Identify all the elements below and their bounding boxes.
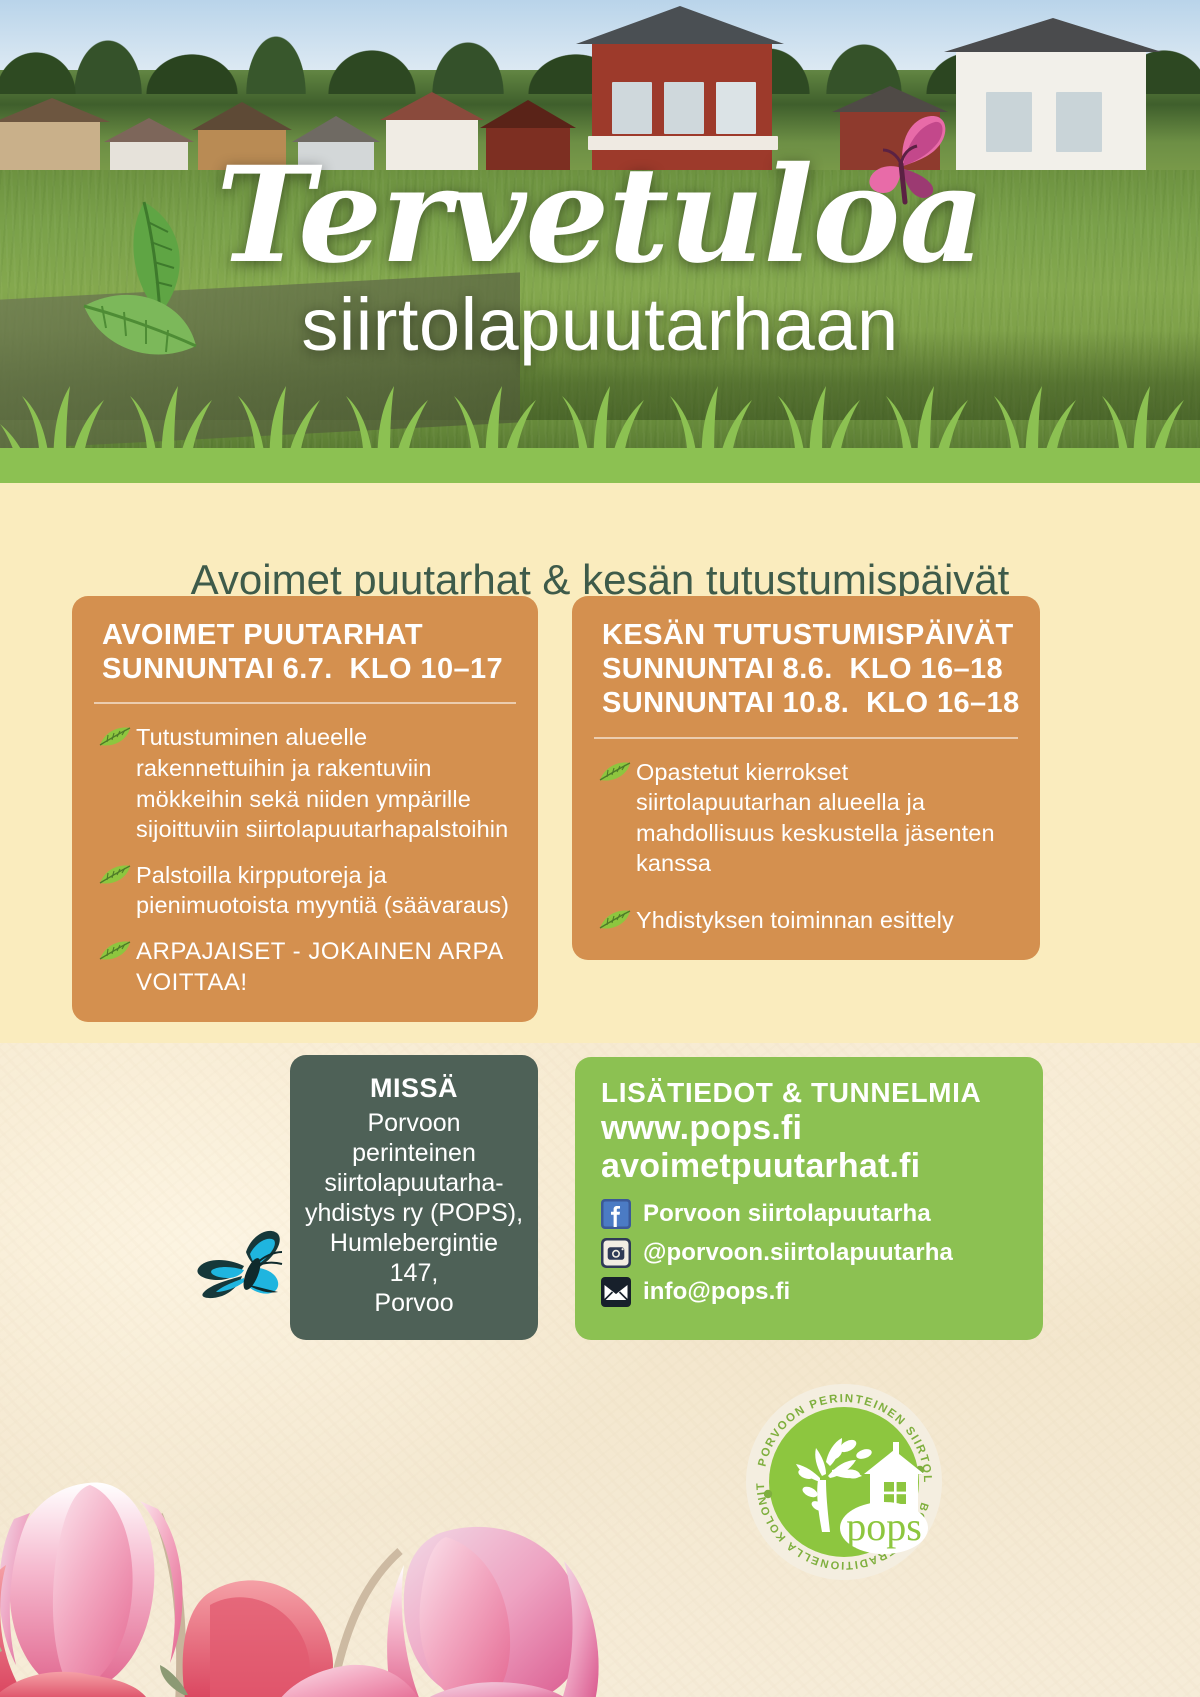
list-item-text: Opastetut kierrokset siirtolapuutarhan a… bbox=[636, 757, 1014, 879]
social-label: info@pops.fi bbox=[643, 1278, 790, 1306]
contact-heading: LISÄTIEDOT & TUNNELMIA bbox=[601, 1077, 1019, 1109]
cottage-window bbox=[664, 82, 704, 134]
cottage-window bbox=[612, 82, 652, 134]
card-bullets: Tutustuminen alueelle rakennettuihin ja … bbox=[72, 704, 538, 1022]
website-link[interactable]: www.pops.fi bbox=[601, 1109, 1019, 1147]
social-link-instagram[interactable]: @porvoon.siirtolapuutarha bbox=[601, 1238, 1019, 1268]
card-title: AVOIMET PUUTARHAT bbox=[102, 618, 512, 652]
leaf-icon bbox=[598, 909, 636, 936]
social-link-email[interactable]: info@pops.fi bbox=[601, 1277, 1019, 1307]
list-item-text: ARPAJAISET - JOKAINEN ARPA VOITTAA! bbox=[136, 936, 512, 998]
website-link[interactable]: avoimetpuutarhat.fi bbox=[601, 1147, 1019, 1185]
list-item: Tutustuminen alueelle rakennettuihin ja … bbox=[98, 722, 512, 844]
cottage-roof bbox=[480, 100, 576, 128]
location-line: Porvoo bbox=[304, 1288, 524, 1318]
poster-root: Tervetuloa siirtolapuutarhaan bbox=[0, 0, 1200, 1697]
card-header: AVOIMET PUUTARHAT SUNNUNTAI 6.7. KLO 10–… bbox=[72, 596, 538, 702]
leaf-icon bbox=[598, 761, 636, 788]
list-item: Opastetut kierrokset siirtolapuutarhan a… bbox=[598, 757, 1014, 879]
cottage-roof bbox=[380, 92, 484, 120]
cottage-window bbox=[1056, 92, 1102, 152]
card-contact: LISÄTIEDOT & TUNNELMIA www.pops.fi avoim… bbox=[575, 1057, 1043, 1340]
list-item-text: Yhdistyksen toiminnan esittely bbox=[636, 905, 954, 936]
cottage-window bbox=[716, 82, 756, 134]
pops-logo: PORVOON PERINTEINEN SIIRTOLAPUUTARHA BOR… bbox=[744, 1382, 944, 1582]
social-label: @porvoon.siirtolapuutarha bbox=[643, 1239, 953, 1267]
card-kesan-tutustumispaivat: KESÄN TUTUSTUMISPÄIVÄT SUNNUNTAI 8.6. KL… bbox=[572, 596, 1040, 960]
facebook-icon bbox=[601, 1199, 631, 1229]
social-links: Porvoon siirtolapuutarha @porvoon.siirto… bbox=[601, 1199, 1019, 1307]
cottage-roof bbox=[832, 86, 948, 112]
cottage-window bbox=[986, 92, 1032, 152]
location-heading: MISSÄ bbox=[304, 1073, 524, 1104]
butterfly-icon bbox=[178, 1222, 288, 1322]
cottage-roof bbox=[0, 98, 110, 122]
social-link-facebook[interactable]: Porvoon siirtolapuutarha bbox=[601, 1199, 1019, 1229]
card-schedule-line: SUNNUNTAI 6.7. KLO 10–17 bbox=[102, 652, 512, 686]
list-item-text: Palstoilla kirpputoreja ja pienimuotoist… bbox=[136, 860, 512, 921]
card-title: KESÄN TUTUSTUMISPÄIVÄT bbox=[602, 618, 1014, 652]
location-line: Porvoon perinteinen bbox=[304, 1108, 524, 1168]
leaf-icon bbox=[98, 864, 136, 891]
card-avoimet-puutarhat: AVOIMET PUUTARHAT SUNNUNTAI 6.7. KLO 10–… bbox=[72, 596, 538, 1022]
card-location: MISSÄ Porvoon perinteinen siirtolapuutar… bbox=[290, 1055, 538, 1340]
location-line: siirtolapuutarha- bbox=[304, 1168, 524, 1198]
logo-wordmark: pops bbox=[846, 1504, 922, 1549]
social-label: Porvoon siirtolapuutarha bbox=[643, 1200, 931, 1228]
cottage-roof bbox=[576, 6, 784, 44]
location-line: Humlebergintie 147, bbox=[304, 1228, 524, 1288]
email-icon bbox=[601, 1277, 631, 1307]
cottage-roof bbox=[104, 118, 194, 142]
leaf-icon bbox=[98, 940, 136, 967]
card-schedule-line: SUNNUNTAI 8.6. KLO 16–18 bbox=[602, 652, 1014, 686]
list-item: Yhdistyksen toiminnan esittely bbox=[598, 905, 1014, 936]
location-line: yhdistys ry (POPS), bbox=[304, 1198, 524, 1228]
card-header: KESÄN TUTUSTUMISPÄIVÄT SUNNUNTAI 8.6. KL… bbox=[572, 596, 1040, 737]
grass-border bbox=[0, 380, 1200, 470]
list-item-text: Tutustuminen alueelle rakennettuihin ja … bbox=[136, 722, 512, 844]
butterfly-icon bbox=[845, 110, 955, 220]
list-item: Palstoilla kirpputoreja ja pienimuotoist… bbox=[98, 860, 512, 921]
list-item: ARPAJAISET - JOKAINEN ARPA VOITTAA! bbox=[98, 936, 512, 998]
leaf-icon bbox=[98, 726, 136, 753]
instagram-icon bbox=[601, 1238, 631, 1268]
cottage-roof bbox=[944, 18, 1162, 52]
cottage-roof bbox=[192, 102, 292, 130]
card-schedule-line: SUNNUNTAI 10.8. KLO 16–18 bbox=[602, 686, 1014, 720]
card-bullets: Opastetut kierrokset siirtolapuutarhan a… bbox=[572, 739, 1040, 960]
